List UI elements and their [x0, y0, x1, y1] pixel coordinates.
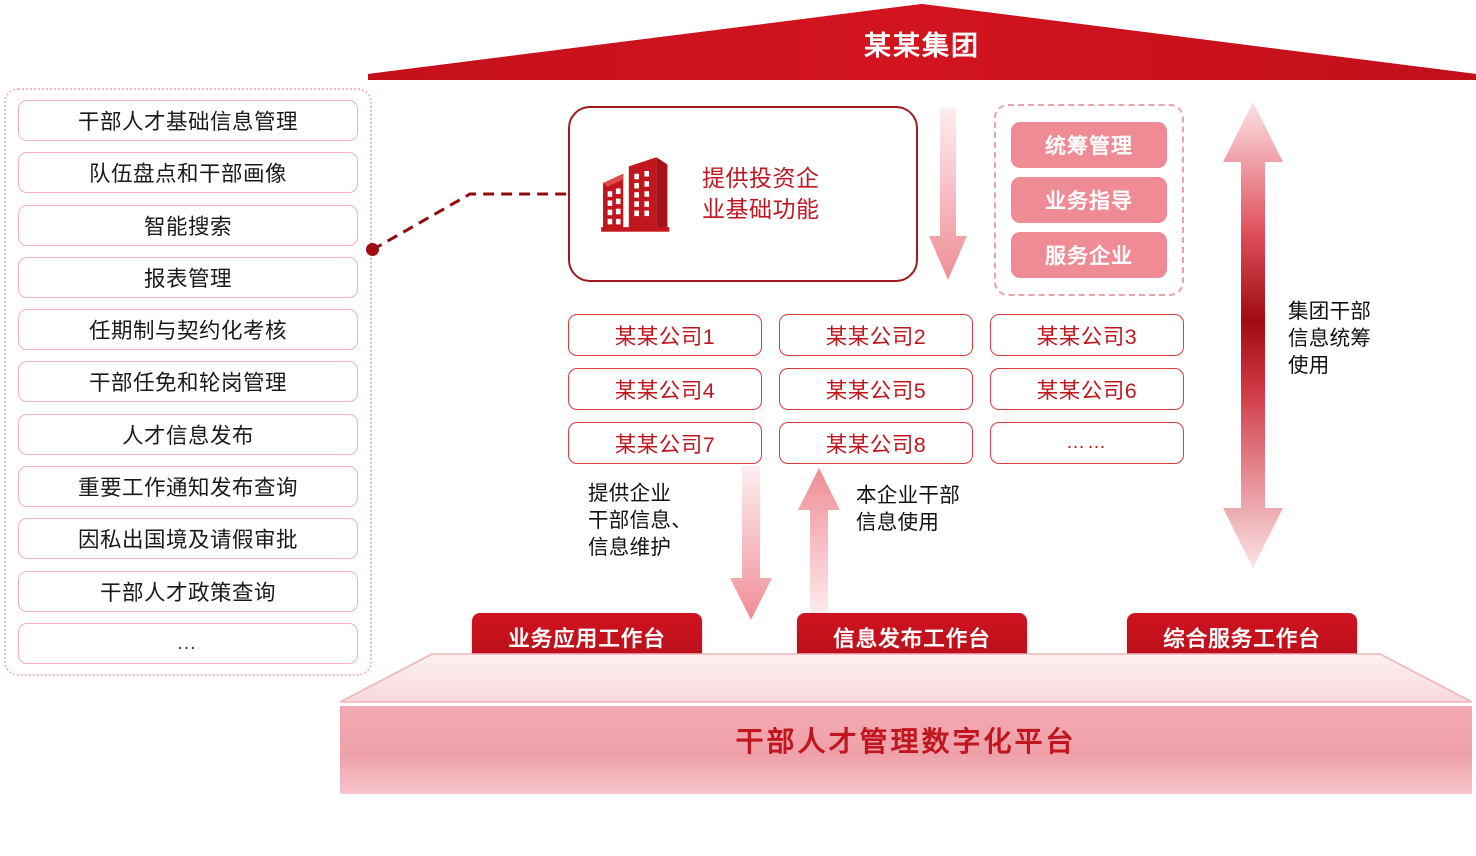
arrow-up-use-info-icon: [797, 466, 841, 622]
company-label: 某某公司7: [615, 428, 715, 459]
gov-pill-0[interactable]: 统筹管理: [1011, 122, 1167, 168]
gov-pill-label: 服务企业: [1045, 240, 1133, 270]
gov-pill-label: 业务指导: [1045, 185, 1133, 215]
arrow-down-provide-info-icon: [729, 466, 773, 622]
connector-line: [360, 180, 590, 270]
company-box-more[interactable]: ……: [990, 422, 1184, 464]
sidebar-item-label: 报表管理: [144, 262, 232, 293]
sidebar-item-label: 重要工作通知发布查询: [78, 471, 298, 502]
gov-pill-1[interactable]: 业务指导: [1011, 177, 1167, 223]
company-label: ……: [1066, 432, 1108, 454]
gov-pill-2[interactable]: 服务企业: [1011, 232, 1167, 278]
sidebar-item-label: 智能搜索: [144, 210, 232, 241]
group-governance-box: 统筹管理 业务指导 服务企业: [994, 104, 1184, 296]
company-box-4[interactable]: 某某公司4: [568, 368, 762, 410]
sidebar-item-4[interactable]: 任期制与契约化考核: [18, 309, 358, 350]
flow-label-provide-info: 提供企业 干部信息、 信息维护: [588, 480, 692, 561]
sidebar-item-1[interactable]: 队伍盘点和干部画像: [18, 152, 358, 193]
sidebar-item-8[interactable]: 因私出国境及请假审批: [18, 518, 358, 559]
roof-shape: [368, 0, 1476, 80]
company-box-3[interactable]: 某某公司3: [990, 314, 1184, 356]
roof-banner: 某某集团: [368, 0, 1476, 80]
company-box-5[interactable]: 某某公司5: [779, 368, 973, 410]
sidebar-item-label: 队伍盘点和干部画像: [89, 157, 287, 188]
company-label: 某某公司3: [1037, 320, 1137, 351]
sidebar-item-9[interactable]: 干部人才政策查询: [18, 571, 358, 612]
building-icon: [592, 148, 684, 240]
sidebar-item-0[interactable]: 干部人才基础信息管理: [18, 100, 358, 141]
flow-label-use-info: 本企业干部 信息使用: [856, 482, 960, 536]
sidebar-item-label: 任期制与契约化考核: [89, 314, 287, 345]
flow-label-group-coordination: 集团干部 信息统筹 使用: [1288, 298, 1371, 379]
sidebar-item-label: 干部人才政策查询: [100, 576, 276, 607]
sidebar-item-6[interactable]: 人才信息发布: [18, 414, 358, 455]
arrow-down-to-companies-icon: [928, 108, 968, 283]
sidebar-item-3[interactable]: 报表管理: [18, 257, 358, 298]
sidebar-item-label: 因私出国境及请假审批: [78, 523, 298, 554]
company-box-7[interactable]: 某某公司7: [568, 422, 762, 464]
investment-enterprise-text: 提供投资企 业基础功能: [702, 163, 820, 225]
company-label: 某某公司8: [826, 428, 926, 459]
sidebar-item-2[interactable]: 智能搜索: [18, 205, 358, 246]
arrow-double-vertical-icon: [1220, 100, 1286, 570]
workbench-label: 业务应用工作台: [508, 622, 666, 653]
diagram-canvas: 某某集团 干部人才基础信息管理 队伍盘点和干部画像 智能搜索 报表管理 任期制与…: [0, 0, 1476, 856]
company-box-2[interactable]: 某某公司2: [779, 314, 973, 356]
sidebar-item-7[interactable]: 重要工作通知发布查询: [18, 466, 358, 507]
company-label: 某某公司1: [615, 320, 715, 351]
sidebar-item-5[interactable]: 干部任免和轮岗管理: [18, 361, 358, 402]
sidebar-item-label: …: [177, 632, 200, 655]
workbench-label: 综合服务工作台: [1163, 622, 1321, 653]
platform-base: [336, 650, 1476, 800]
sidebar-item-label: 人才信息发布: [122, 419, 254, 450]
company-label: 某某公司5: [826, 374, 926, 405]
workbench-label: 信息发布工作台: [833, 622, 991, 653]
investment-enterprise-card: 提供投资企 业基础功能: [568, 106, 918, 282]
company-label: 某某公司6: [1037, 374, 1137, 405]
company-box-6[interactable]: 某某公司6: [990, 368, 1184, 410]
sidebar-item-label: 干部人才基础信息管理: [78, 105, 298, 136]
company-box-1[interactable]: 某某公司1: [568, 314, 762, 356]
company-grid: 某某公司1 某某公司2 某某公司3 某某公司4 某某公司5 某某公司6 某某公司…: [568, 314, 1184, 464]
sidebar-item-label: 干部任免和轮岗管理: [89, 366, 287, 397]
function-list-panel: 干部人才基础信息管理 队伍盘点和干部画像 智能搜索 报表管理 任期制与契约化考核…: [4, 88, 372, 676]
sidebar-item-more[interactable]: …: [18, 623, 358, 664]
gov-pill-label: 统筹管理: [1045, 130, 1133, 160]
company-box-8[interactable]: 某某公司8: [779, 422, 973, 464]
company-label: 某某公司4: [615, 374, 715, 405]
company-label: 某某公司2: [826, 320, 926, 351]
